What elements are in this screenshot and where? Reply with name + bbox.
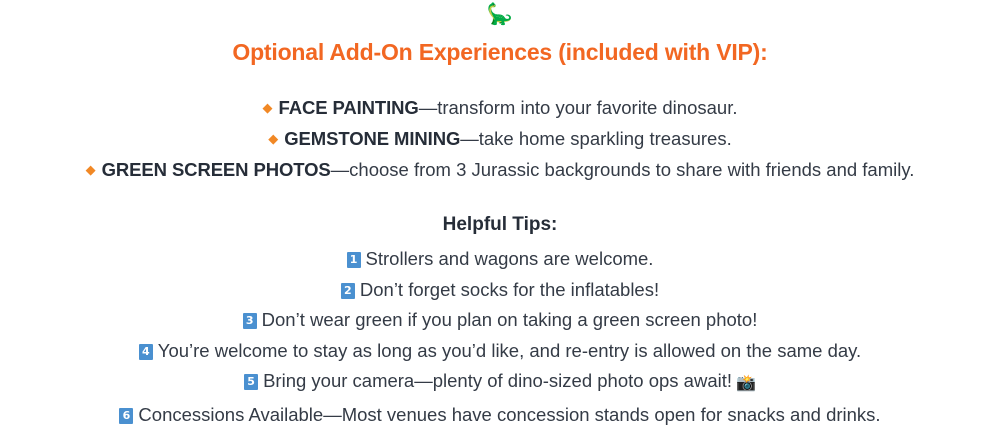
addon-list-item: ◆FACE PAINTING—transform into your favor…: [0, 92, 1000, 123]
addon-experiences-list: ◆FACE PAINTING—transform into your favor…: [0, 67, 1000, 185]
tip-text: Don’t forget socks for the inflatables!: [360, 279, 659, 300]
addon-item-label: FACE PAINTING: [279, 97, 419, 118]
diamond-bullet-icon: ◆: [268, 123, 278, 154]
tip-list-item: 2Don’t forget socks for the inflatables!: [0, 275, 1000, 306]
addon-item-description: —take home sparkling treasures.: [460, 128, 731, 149]
tip-list-item: 4You’re welcome to stay as long as you’d…: [0, 336, 1000, 367]
tip-list-item: 5Bring your camera—plenty of dino-sized …: [0, 366, 1000, 400]
addon-item-description: —choose from 3 Jurassic backgrounds to s…: [331, 159, 915, 180]
tip-list-item: 6Concessions Available—Most venues have …: [0, 400, 1000, 431]
tip-text: Don’t wear green if you plan on taking a…: [262, 309, 758, 330]
tips-section-heading: Helpful Tips:: [0, 185, 1000, 238]
camera-emoji: 📸: [736, 369, 756, 400]
helpful-tips-list: 1Strollers and wagons are welcome. 2Don’…: [0, 238, 1000, 430]
tip-number-badge: 4: [139, 344, 153, 360]
addon-item-label: GREEN SCREEN PHOTOS: [102, 159, 331, 180]
tip-number-badge: 6: [119, 408, 133, 424]
dinosaur-emoji: 🦕: [487, 1, 513, 29]
flyer-page: 🦕 Optional Add-On Experiences (included …: [0, 0, 1000, 447]
tip-list-item: 1Strollers and wagons are welcome.: [0, 244, 1000, 275]
diamond-bullet-icon: ◆: [86, 154, 96, 185]
dinosaur-decoration: 🦕: [0, 0, 1000, 29]
addon-item-label: GEMSTONE MINING: [284, 128, 460, 149]
tip-number-badge: 2: [341, 283, 355, 299]
tip-list-item: 3Don’t wear green if you plan on taking …: [0, 305, 1000, 336]
tip-text: You’re welcome to stay as long as you’d …: [158, 340, 861, 361]
tip-text: Concessions Available—Most venues have c…: [138, 404, 880, 425]
addon-list-item: ◆GREEN SCREEN PHOTOS—choose from 3 Juras…: [0, 154, 1000, 185]
addon-section-heading: Optional Add-On Experiences (included wi…: [0, 29, 1000, 67]
addon-item-description: —transform into your favorite dinosaur.: [419, 97, 738, 118]
tip-number-badge: 3: [243, 313, 257, 329]
tip-text: Bring your camera—plenty of dino-sized p…: [263, 370, 732, 391]
addon-list-item: ◆GEMSTONE MINING—take home sparkling tre…: [0, 123, 1000, 154]
tip-number-badge: 1: [347, 252, 361, 268]
tip-text: Strollers and wagons are welcome.: [366, 248, 654, 269]
tip-number-badge: 5: [244, 374, 258, 390]
diamond-bullet-icon: ◆: [263, 92, 273, 123]
